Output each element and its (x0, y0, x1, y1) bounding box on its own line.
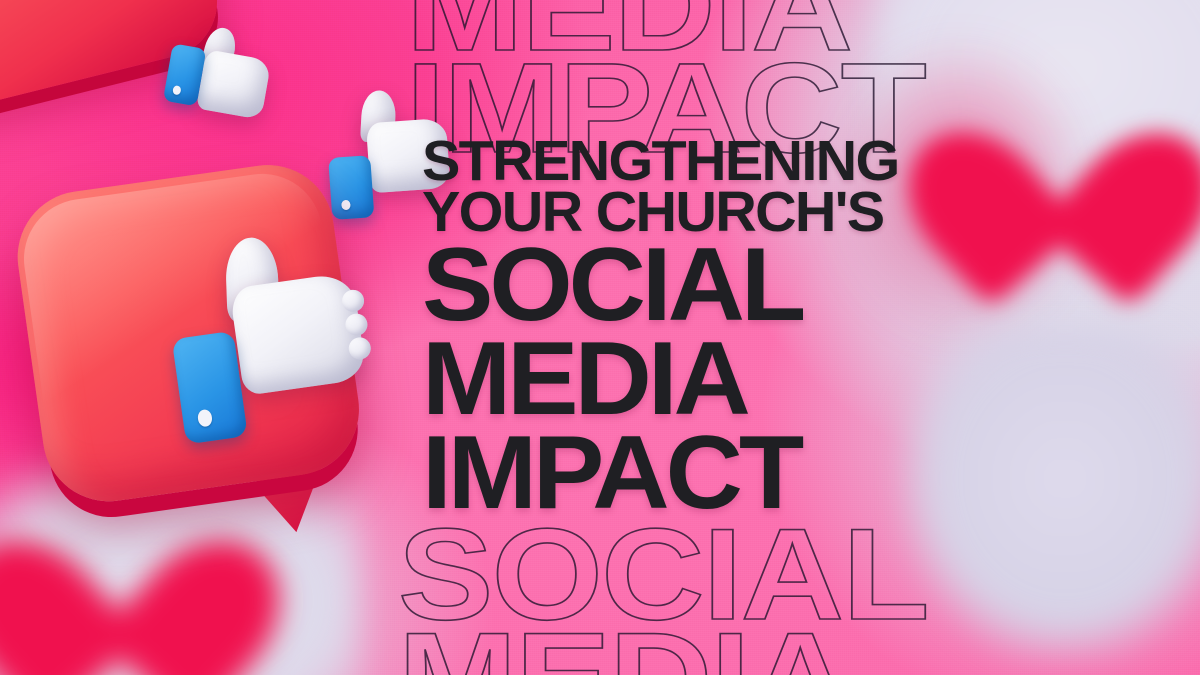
headline: STRENGTHENING YOUR CHURCH'S SOCIAL MEDIA… (422, 136, 962, 519)
poster-canvas: MEDIA IMPACT SOCIAL MEDIA STRENGTHENING (0, 0, 1200, 675)
thumbs-up-icon (161, 22, 279, 131)
thumbs-up-icon-main (158, 227, 379, 442)
headline-line-4: MEDIA (422, 335, 978, 425)
headline-line-5: IMPACT (422, 429, 978, 519)
headline-line-3: SOCIAL (422, 241, 978, 331)
headline-line-1: STRENGTHENING (422, 136, 967, 186)
